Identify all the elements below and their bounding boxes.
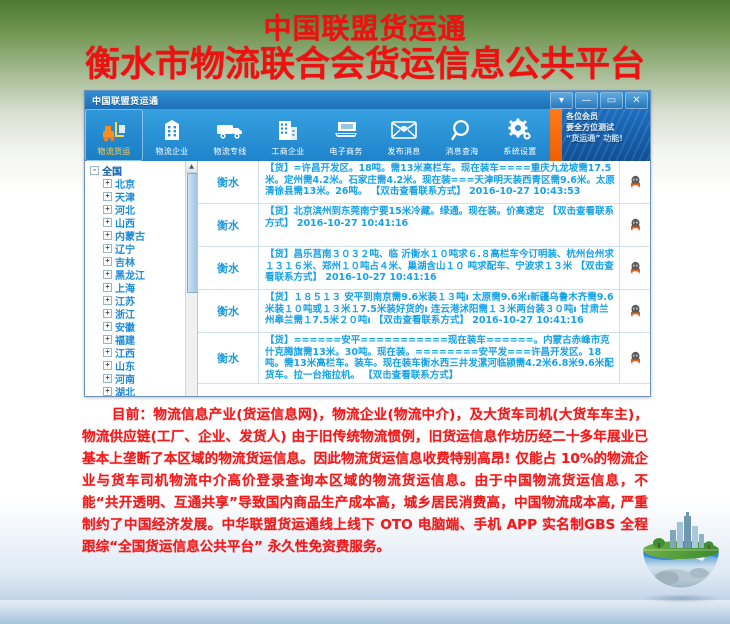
- expand-toggle-icon[interactable]: +: [103, 244, 112, 253]
- scroll-up-icon[interactable]: ▲: [186, 161, 197, 173]
- ribbon-toolbar: 物流货运 物流企业: [85, 109, 650, 161]
- ad-line-3: “货运通” 功能!: [566, 134, 646, 145]
- ad-banner[interactable]: 各位会员 要全方位测试 “货运通” 功能!: [550, 109, 650, 161]
- row-contact-button[interactable]: [619, 204, 650, 246]
- gear-icon: [507, 116, 533, 144]
- ribbon-item-label: 电子商务: [329, 146, 362, 157]
- ribbon-item-label: 消息查海: [445, 146, 478, 157]
- expand-toggle-icon[interactable]: +: [103, 179, 112, 188]
- window-titlebar: 中国联盟货运通 ▾ — ▭ ✕: [85, 91, 650, 109]
- row-contact-button[interactable]: [619, 290, 650, 332]
- tree-node-province[interactable]: +黑龙江: [89, 268, 197, 281]
- page-title-line1: 中国联盟货运通: [263, 12, 466, 45]
- expand-toggle-icon[interactable]: +: [103, 374, 112, 383]
- expand-toggle-icon[interactable]: +: [103, 218, 112, 227]
- tree-node-label: 湖北: [115, 384, 135, 396]
- ribbon-item-label: 系统设置: [503, 146, 536, 157]
- ribbon-item-label: 物流货运: [97, 146, 130, 157]
- maximize-icon[interactable]: ▭: [600, 92, 623, 109]
- row-contact-button[interactable]: [619, 161, 650, 203]
- dropdown-icon[interactable]: ▾: [550, 92, 573, 109]
- table-row[interactable]: 衡水 【货】北京滨州到东莞南宁要15米冷藏。绿通。现在装。价高速定 【双击查看联…: [198, 204, 650, 247]
- row-region: 衡水: [198, 247, 259, 289]
- description-paragraph: 目前：物流信息产业(货运信息网)，物流企业(物流中介)，及大货车司机(大货车车主…: [82, 404, 648, 558]
- qq-penguin-icon: [629, 218, 642, 233]
- row-message-text: 【货】昌乐莒南３０３２吨、临 沂衡水１０吨求６.８高栏车今订明装、杭州台州求１３…: [265, 249, 614, 283]
- expand-toggle-icon[interactable]: +: [103, 205, 112, 214]
- qq-penguin-icon: [629, 304, 642, 319]
- building-icon: [160, 116, 184, 144]
- ribbon-item-logistics-line[interactable]: 物流专线: [201, 109, 259, 161]
- window-title: 中国联盟货运通: [92, 94, 159, 107]
- globe-city-graphic: [637, 512, 725, 604]
- ribbon-item-message-search[interactable]: 消息查海: [433, 109, 491, 161]
- ribbon-item-ecommerce[interactable]: 电子商务: [317, 109, 375, 161]
- row-timestamp: 2016-10-27 10:43:53: [469, 186, 580, 197]
- row-message: 【货】======安平===========现在装车======。内蒙古赤峰市克…: [259, 333, 619, 383]
- tree-node-province[interactable]: +河北: [89, 203, 197, 216]
- expand-toggle-icon[interactable]: +: [103, 257, 112, 266]
- forklift-icon: [101, 116, 127, 144]
- description-text: 目前：物流信息产业(货运信息网)，物流企业(物流中介)，及大货车司机(大货车车主…: [82, 404, 648, 558]
- expand-toggle-icon[interactable]: +: [103, 270, 112, 279]
- ecommerce-icon: [332, 116, 360, 144]
- freight-message-list: 衡水 【货】=许昌开发区。18吨。需13米高栏车。现在装车====重庆九龙坡需1…: [198, 161, 650, 396]
- tree-node-province[interactable]: +江苏: [89, 294, 197, 307]
- row-region: 衡水: [198, 204, 259, 246]
- office-icon: [275, 116, 301, 144]
- window-controls: ▾ — ▭ ✕: [548, 91, 648, 109]
- ribbon-item-label: 物流专线: [213, 146, 246, 157]
- row-message: 【货】１８５１３ 安平到南京需9.6米装１３吨ı 太原需9.6米ı新疆乌鲁木齐需…: [259, 290, 619, 332]
- row-timestamp: 2016-10-27 10:41:16: [325, 272, 436, 283]
- window-body: - 全国 +北京 +天津 +河北 +山西 +内蒙古 +辽宁 +吉林 +黑龙江 +…: [85, 161, 650, 396]
- qq-penguin-icon: [629, 351, 642, 366]
- page-title-line2: 衡水市物流联合会货运信息公共平台: [0, 47, 730, 84]
- envelope-icon: [390, 116, 418, 144]
- globe-shadow: [641, 594, 721, 603]
- ribbon-item-label: 工商企业: [271, 146, 304, 157]
- row-message: 【货】=许昌开发区。18吨。需13米高栏车。现在装车====重庆九龙坡需17.5…: [259, 161, 619, 203]
- application-window: 中国联盟货运通 ▾ — ▭ ✕ 物流货运: [84, 90, 651, 397]
- row-contact-button[interactable]: [619, 333, 650, 383]
- tree-node-province[interactable]: +山东: [89, 359, 197, 372]
- truck-icon: [216, 116, 244, 144]
- qq-penguin-icon: [629, 261, 642, 276]
- row-region: 衡水: [198, 333, 259, 383]
- table-row[interactable]: 衡水 【货】=许昌开发区。18吨。需13米高栏车。现在装车====重庆九龙坡需1…: [198, 161, 650, 204]
- region-tree: - 全国 +北京 +天津 +河北 +山西 +内蒙古 +辽宁 +吉林 +黑龙江 +…: [85, 161, 197, 396]
- expand-toggle-icon[interactable]: +: [103, 192, 112, 201]
- expand-toggle-icon[interactable]: +: [103, 361, 112, 370]
- row-region: 衡水: [198, 161, 259, 203]
- ribbon-item-logistics-freight[interactable]: 物流货运: [85, 109, 143, 161]
- expand-toggle-icon[interactable]: +: [103, 335, 112, 344]
- tree-node-province[interactable]: +上海: [89, 281, 197, 294]
- background-gloss: [0, 600, 730, 624]
- ad-line-1: 各位会员: [566, 112, 646, 123]
- tree-node-province[interactable]: +内蒙古: [89, 229, 197, 242]
- tree-node-province[interactable]: +浙江: [89, 307, 197, 320]
- expand-toggle-icon[interactable]: +: [103, 283, 112, 292]
- sidebar-scrollbar[interactable]: ▲: [185, 161, 197, 396]
- ribbon-item-logistics-company[interactable]: 物流企业: [143, 109, 201, 161]
- collapse-toggle-icon[interactable]: -: [90, 166, 99, 175]
- tree-node-province[interactable]: +河南: [89, 372, 197, 385]
- close-icon[interactable]: ✕: [625, 92, 648, 109]
- row-message: 【货】昌乐莒南３０３２吨、临 沂衡水１０吨求６.８高栏车今订明装、杭州台州求１３…: [259, 247, 619, 289]
- table-row[interactable]: 衡水 【货】昌乐莒南３０３２吨、临 沂衡水１０吨求６.８高栏车今订明装、杭州台州…: [198, 247, 650, 290]
- search-icon: [450, 116, 474, 144]
- ribbon-item-system-settings[interactable]: 系统设置: [491, 109, 549, 161]
- row-timestamp: 2016-10-27 10:41:16: [472, 315, 583, 326]
- tree-node-province[interactable]: +福建: [89, 333, 197, 346]
- row-region: 衡水: [198, 290, 259, 332]
- minimize-icon[interactable]: —: [575, 92, 598, 109]
- tree-node-nationwide[interactable]: - 全国: [89, 164, 197, 177]
- region-tree-sidebar: - 全国 +北京 +天津 +河北 +山西 +内蒙古 +辽宁 +吉林 +黑龙江 +…: [85, 161, 198, 396]
- row-message: 【货】北京滨州到东莞南宁要15米冷藏。绿通。现在装。价高速定 【双击查看联系方式…: [259, 204, 619, 246]
- tree-node-province[interactable]: +湖北: [89, 385, 197, 396]
- expand-toggle-icon[interactable]: +: [103, 231, 112, 240]
- table-row[interactable]: 衡水 【货】======安平===========现在装车======。内蒙古赤…: [198, 333, 650, 384]
- tree-node-province[interactable]: +安徽: [89, 320, 197, 333]
- qq-penguin-icon: [629, 175, 642, 190]
- tree-node-province[interactable]: +天津: [89, 190, 197, 203]
- expand-toggle-icon[interactable]: +: [103, 387, 112, 396]
- expand-toggle-icon[interactable]: +: [103, 348, 112, 357]
- tree-node-province[interactable]: +辽宁: [89, 242, 197, 255]
- row-timestamp: 2016-10-27 10:41:16: [297, 218, 408, 229]
- expand-toggle-icon[interactable]: +: [103, 322, 112, 331]
- expand-toggle-icon[interactable]: +: [103, 309, 112, 318]
- ribbon-item-publish-message[interactable]: 发布消息: [375, 109, 433, 161]
- ribbon-item-label: 物流企业: [155, 146, 188, 157]
- table-row[interactable]: 衡水 【货】１８５１３ 安平到南京需9.6米装１３吨ı 太原需9.6米ı新疆乌鲁…: [198, 290, 650, 333]
- page-title: 中国联盟货运通 衡水市物流联合会货运信息公共平台: [0, 14, 730, 84]
- scrollbar-thumb[interactable]: [187, 173, 198, 293]
- ribbon-item-industry-company[interactable]: 工商企业: [259, 109, 317, 161]
- expand-toggle-icon[interactable]: +: [103, 296, 112, 305]
- ad-line-2: 要全方位测试: [566, 123, 646, 134]
- ad-stripe: [550, 109, 562, 161]
- tree-node-province[interactable]: +江西: [89, 346, 197, 359]
- ad-banner-text: 各位会员 要全方位测试 “货运通” 功能!: [562, 109, 650, 161]
- row-contact-button[interactable]: [619, 247, 650, 289]
- ribbon-item-label: 发布消息: [387, 146, 420, 157]
- row-message-text: 【货】======安平===========现在装车======。内蒙古赤峰市克…: [265, 335, 614, 381]
- tree-node-province[interactable]: +北京: [89, 177, 197, 190]
